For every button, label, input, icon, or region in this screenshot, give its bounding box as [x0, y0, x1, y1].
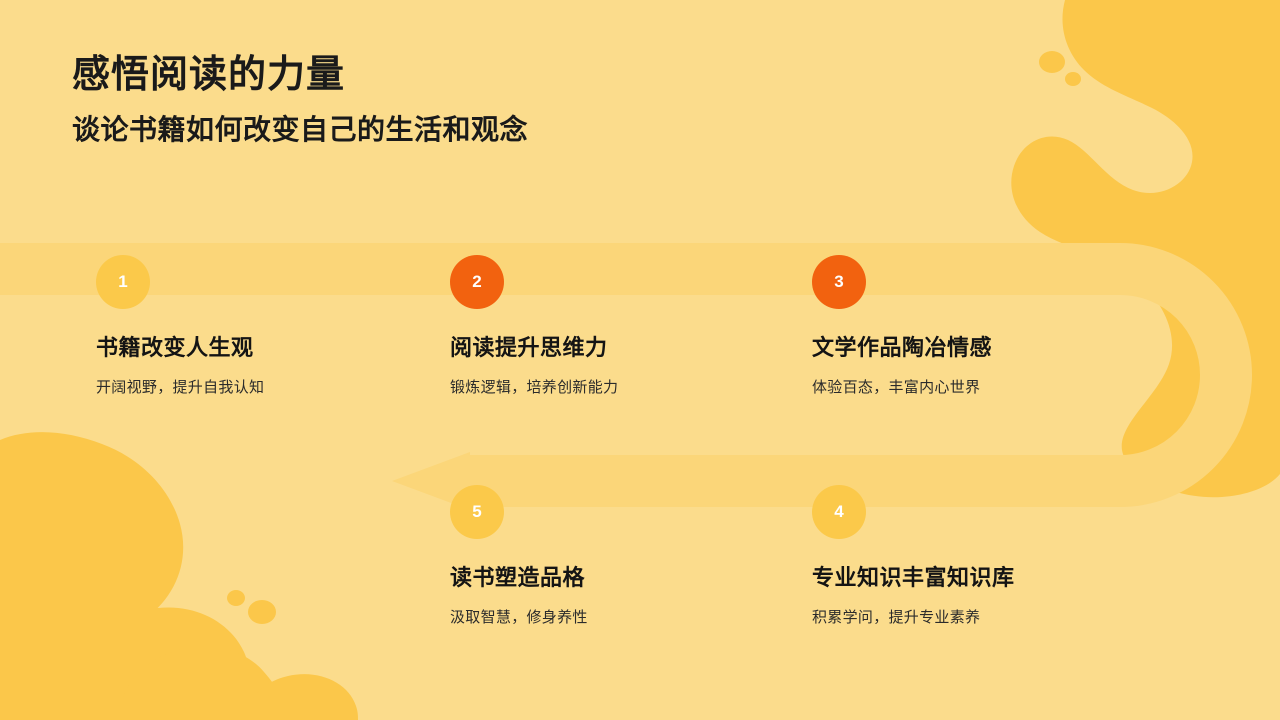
step-number-4: 4 [834, 502, 843, 522]
title-block: 感悟阅读的力量 谈论书籍如何改变自己的生活和观念 [72, 52, 972, 147]
accent-dot-3 [227, 590, 245, 606]
bottom-left-blob-tail [248, 674, 358, 720]
step-heading-1: 书籍改变人生观 [96, 330, 426, 362]
step-number-5: 5 [472, 502, 481, 522]
step-heading-2: 阅读提升思维力 [450, 330, 780, 362]
accent-dot-4 [248, 600, 276, 624]
step-description-4: 积累学问，提升专业素养 [812, 606, 1142, 627]
step-description-3: 体验百态，丰富内心世界 [812, 376, 1142, 397]
step-text-2: 阅读提升思维力 锻炼逻辑，培养创新能力 [450, 330, 780, 397]
step-number-2: 2 [472, 272, 481, 292]
step-description-1: 开阔视野，提升自我认知 [96, 376, 426, 397]
page-title: 感悟阅读的力量 [72, 52, 972, 98]
step-text-5: 读书塑造品格 汲取智慧，修身养性 [450, 560, 780, 627]
step-number-1: 1 [118, 272, 127, 292]
bottom-left-blob-lower [120, 646, 286, 720]
step-text-4: 专业知识丰富知识库 积累学问，提升专业素养 [812, 560, 1142, 627]
step-text-1: 书籍改变人生观 开阔视野，提升自我认知 [96, 330, 426, 397]
bottom-left-blob-shape [0, 432, 249, 720]
step-heading-3: 文学作品陶冶情感 [812, 330, 1142, 362]
step-description-2: 锻炼逻辑，培养创新能力 [450, 376, 780, 397]
step-number-3: 3 [834, 272, 843, 292]
step-text-3: 文学作品陶冶情感 体验百态，丰富内心世界 [812, 330, 1142, 397]
step-number-badge-4: 4 [812, 485, 866, 539]
top-right-blob-shape [1011, 0, 1280, 497]
accent-dot-1 [1039, 51, 1065, 73]
page-subtitle: 谈论书籍如何改变自己的生活和观念 [72, 112, 972, 147]
step-number-badge-2: 2 [450, 255, 504, 309]
step-number-badge-5: 5 [450, 485, 504, 539]
step-heading-5: 读书塑造品格 [450, 560, 780, 592]
slide-canvas: 感悟阅读的力量 谈论书籍如何改变自己的生活和观念 1 书籍改变人生观 开阔视野，… [0, 0, 1280, 720]
step-heading-4: 专业知识丰富知识库 [812, 560, 1142, 592]
accent-dot-2 [1065, 72, 1081, 86]
step-description-5: 汲取智慧，修身养性 [450, 606, 780, 627]
step-number-badge-1: 1 [96, 255, 150, 309]
step-number-badge-3: 3 [812, 255, 866, 309]
